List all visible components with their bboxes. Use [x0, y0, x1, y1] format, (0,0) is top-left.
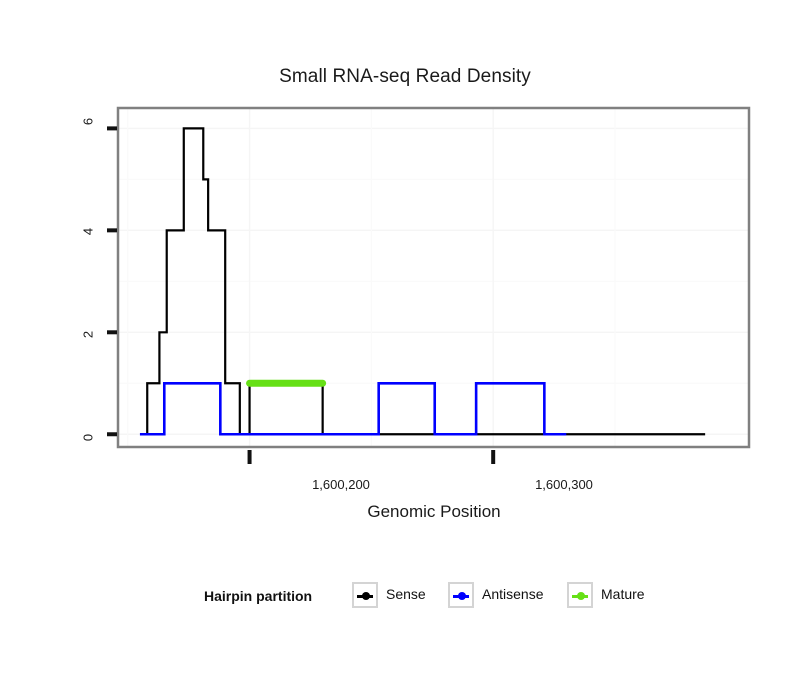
chart-figure: Small RNA-seq Read Density Total Reads G…: [0, 0, 810, 690]
legend-dot-antisense: [458, 592, 466, 600]
legend-key-box-antisense: [448, 582, 474, 608]
legend-dot-sense: [362, 592, 370, 600]
legend-dot-mature: [577, 592, 585, 600]
legend-title: Hairpin partition: [204, 588, 312, 604]
legend-label-mature: Mature: [601, 586, 645, 602]
legend-key-box-mature: [567, 582, 593, 608]
legend-label-antisense: Antisense: [482, 586, 543, 602]
legend-key-box-sense: [352, 582, 378, 608]
legend-label-sense: Sense: [386, 586, 426, 602]
